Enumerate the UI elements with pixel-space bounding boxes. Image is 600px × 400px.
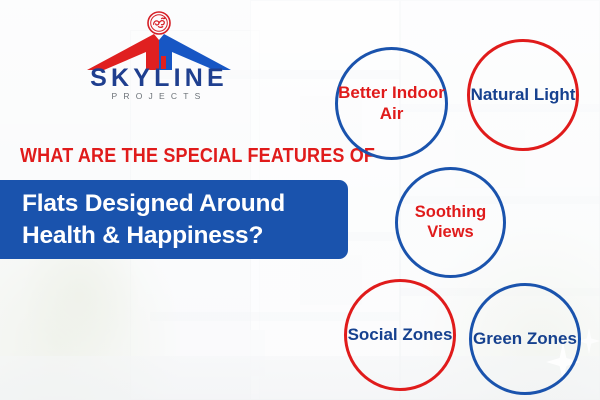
feature-bubble-soothing-views[interactable]: Soothing Views bbox=[395, 167, 506, 278]
headline-title-box: Flats Designed Around Health & Happiness… bbox=[0, 180, 348, 259]
feature-bubble-better-indoor-air[interactable]: Better Indoor Air bbox=[335, 47, 448, 160]
feature-bubble-green-zones[interactable]: Green Zones bbox=[469, 283, 581, 395]
feature-bubble-social-zones[interactable]: Social Zones bbox=[344, 279, 456, 391]
headline-title-line-2: Health & Happiness? bbox=[22, 220, 348, 252]
feature-label: Social Zones bbox=[348, 325, 453, 345]
brand-name: SKYLINE bbox=[64, 66, 254, 91]
headline-title-line-1: Flats Designed Around bbox=[22, 188, 348, 220]
feature-label: Soothing Views bbox=[398, 203, 503, 242]
brand-logo[interactable]: SKYLINE PROJECTS bbox=[64, 8, 254, 100]
headline-kicker: WHAT ARE THE SPECIAL FEATURES OF bbox=[20, 146, 375, 166]
feature-bubble-natural-light[interactable]: Natural Light bbox=[467, 39, 579, 151]
feature-label: Green Zones bbox=[473, 329, 577, 349]
feature-label: Better Indoor Air bbox=[338, 83, 445, 123]
feature-label: Natural Light bbox=[471, 85, 576, 105]
brand-tagline: PROJECTS bbox=[64, 92, 254, 101]
